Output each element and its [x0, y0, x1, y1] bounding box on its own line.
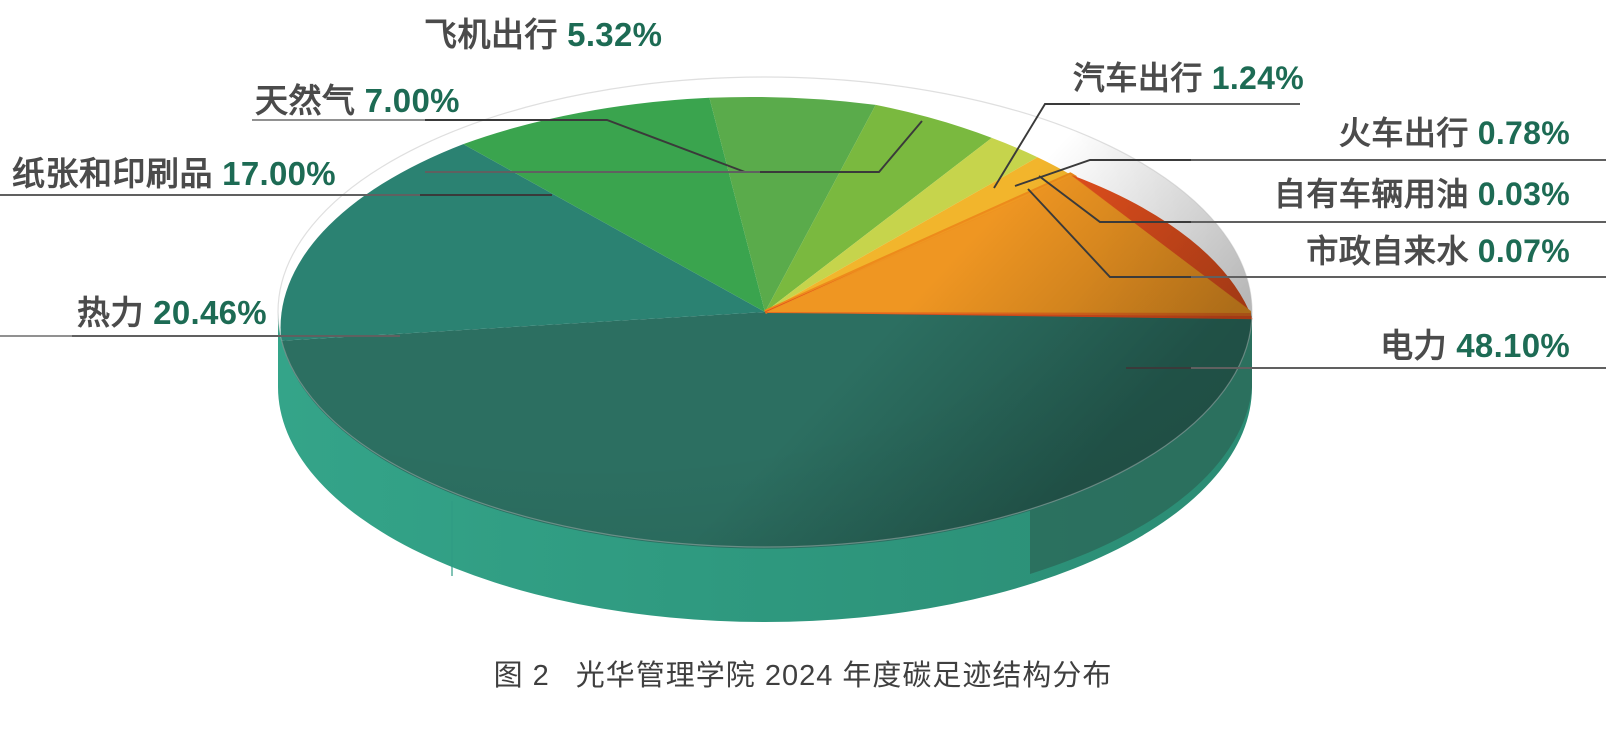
figure-caption: 图 2光华管理学院 2024 年度碳足迹结构分布 — [0, 652, 1606, 694]
label-paper-pct: 17.00% — [222, 155, 336, 192]
label-heat-name: 热力 — [77, 294, 144, 331]
figure-caption-text: 光华管理学院 2024 年度碳足迹结构分布 — [576, 660, 1113, 692]
pie-chart-3d — [0, 0, 1606, 729]
label-own-vehicle-fuel: 自有车辆用油 0.03% — [1040, 178, 1570, 210]
label-own-vehicle-fuel-pct: 0.03% — [1478, 176, 1570, 212]
label-heat-pct: 20.46% — [153, 294, 267, 331]
label-electricity-pct: 48.10% — [1456, 327, 1570, 364]
label-aircraft: 飞机出行 5.32% — [424, 18, 662, 51]
label-car-pct: 1.24% — [1212, 60, 1304, 96]
label-car: 汽车出行 1.24% — [900, 62, 1304, 94]
label-train-pct: 0.78% — [1478, 115, 1570, 151]
label-aircraft-name: 飞机出行 — [424, 16, 558, 53]
label-natural-gas-pct: 7.00% — [365, 82, 460, 119]
label-train-name: 火车出行 — [1339, 115, 1469, 151]
figure-container: 飞机出行 5.32% 天然气 7.00% 纸张和印刷品 17.00% 热力 20… — [0, 0, 1606, 729]
label-municipal-water: 市政自来水 0.07% — [1080, 235, 1570, 267]
label-electricity-name: 电力 — [1380, 327, 1447, 364]
label-train: 火车出行 0.78% — [1100, 117, 1570, 149]
label-paper: 纸张和印刷品 17.00% — [12, 157, 336, 190]
label-natural-gas: 天然气 7.00% — [255, 84, 460, 117]
label-natural-gas-name: 天然气 — [255, 82, 356, 119]
label-municipal-water-name: 市政自来水 — [1306, 233, 1469, 269]
label-aircraft-pct: 5.32% — [567, 16, 662, 53]
label-heat: 热力 20.46% — [77, 296, 267, 329]
figure-number: 图 2 — [494, 660, 550, 692]
label-own-vehicle-fuel-name: 自有车辆用油 — [1274, 176, 1469, 212]
label-car-name: 汽车出行 — [1073, 60, 1203, 96]
label-paper-name: 纸张和印刷品 — [12, 155, 213, 192]
label-municipal-water-pct: 0.07% — [1478, 233, 1570, 269]
label-electricity: 电力 48.10% — [1180, 329, 1570, 362]
